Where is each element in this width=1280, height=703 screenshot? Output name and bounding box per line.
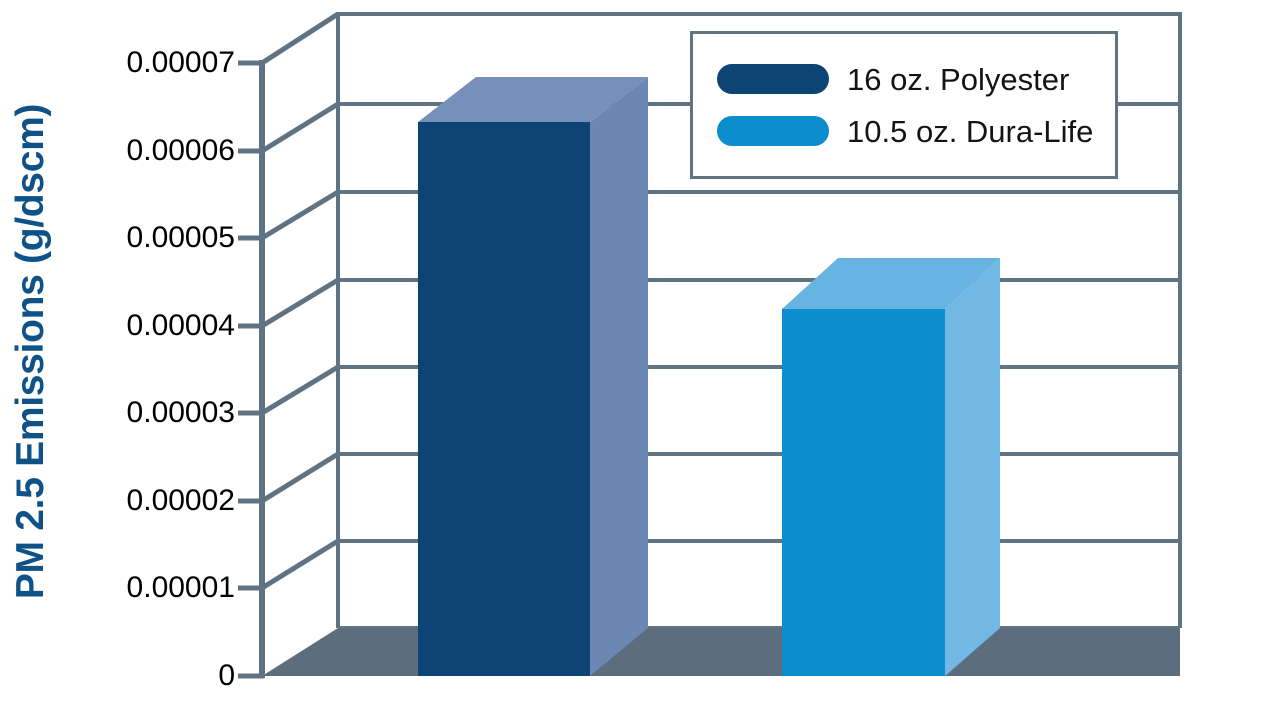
bar-side-face [590,77,648,676]
depth-line [262,192,338,238]
legend: 16 oz. Polyester 10.5 oz. Dura-Life [690,31,1118,179]
legend-item[interactable]: 10.5 oz. Dura-Life [717,105,1115,157]
depth-line [262,14,338,63]
legend-swatch-icon [717,64,829,94]
legend-item[interactable]: 16 oz. Polyester [717,53,1115,105]
bar-16-oz-polyester[interactable] [418,77,648,676]
bar-side-face [945,258,1000,676]
bar-10-5-oz-dura-life[interactable] [782,258,1000,676]
floor-plane [262,628,1180,676]
depth-line [262,280,338,326]
depth-line [262,367,338,413]
legend-item-label: 10.5 oz. Dura-Life [847,116,1093,147]
depth-lines [262,14,338,588]
bar-front-face [418,122,590,676]
depth-line [262,454,338,501]
depth-line [262,104,338,151]
legend-swatch-icon [717,116,829,146]
bar-front-face [782,309,945,676]
depth-line [262,541,338,588]
legend-item-label: 16 oz. Polyester [847,64,1069,95]
chart-canvas: PM 2.5 Emissions (g/dscm) 0.00007 0.0000… [0,0,1280,703]
